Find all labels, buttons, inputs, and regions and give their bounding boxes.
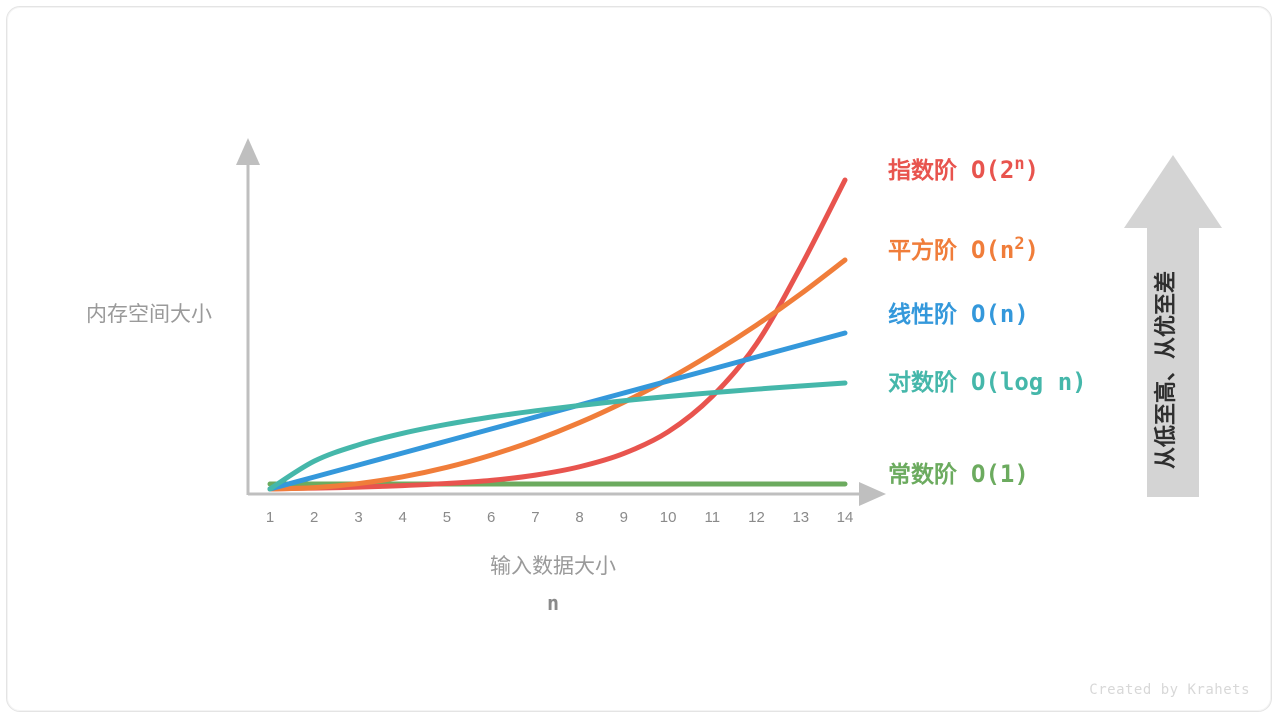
legend-complexity-notation: O(1) bbox=[971, 460, 1029, 488]
legend-item-logarithmic: 对数阶O(log n) bbox=[888, 368, 1087, 396]
chart-legend: 指数阶O(2n)平方阶O(n2)线性阶O(n)对数阶O(log n)常数阶O(1… bbox=[888, 154, 1087, 488]
x-tick-labels: 1234567891011121314 bbox=[266, 509, 854, 526]
x-tick-label: 4 bbox=[399, 509, 407, 526]
x-tick-label: 6 bbox=[487, 509, 495, 526]
x-tick-label: 14 bbox=[837, 509, 854, 526]
complexity-chart: 1234567891011121314 内存空间大小 输入数据大小 n 指数阶O… bbox=[0, 0, 1280, 720]
legend-item-exponential: 指数阶O(2n) bbox=[888, 154, 1039, 184]
trend-arrow-annotation: 从低至高、从优至差 bbox=[1124, 155, 1222, 497]
y-axis-title: 内存空间大小 bbox=[86, 303, 212, 326]
legend-label-cn: 常数阶 bbox=[888, 461, 957, 487]
x-tick-label: 3 bbox=[354, 509, 362, 526]
x-tick-label: 2 bbox=[310, 509, 318, 526]
x-tick-label: 11 bbox=[705, 509, 721, 526]
chart-series-group bbox=[270, 180, 845, 489]
legend-label-cn: 平方阶 bbox=[888, 237, 957, 263]
legend-complexity-notation: O(2n) bbox=[971, 154, 1039, 184]
series-line-exponential bbox=[270, 180, 845, 489]
x-tick-label: 9 bbox=[620, 509, 628, 526]
legend-complexity-notation: O(log n) bbox=[971, 368, 1087, 396]
legend-complexity-notation: O(n) bbox=[971, 300, 1029, 328]
x-tick-label: 10 bbox=[660, 509, 677, 526]
legend-label-cn: 指数阶 bbox=[888, 157, 957, 183]
series-line-linear bbox=[270, 333, 845, 489]
legend-label-cn: 对数阶 bbox=[888, 369, 957, 395]
x-tick-label: 12 bbox=[748, 509, 765, 526]
x-tick-label: 7 bbox=[531, 509, 539, 526]
legend-label-cn: 线性阶 bbox=[888, 301, 957, 327]
x-tick-label: 5 bbox=[443, 509, 451, 526]
x-axis-title: 输入数据大小 bbox=[490, 555, 616, 578]
legend-item-linear: 线性阶O(n) bbox=[888, 300, 1029, 328]
x-axis-variable: n bbox=[547, 591, 559, 615]
x-tick-label: 13 bbox=[792, 509, 809, 526]
trend-arrow-label: 从低至高、从优至差 bbox=[1153, 271, 1178, 469]
legend-complexity-notation: O(n2) bbox=[971, 234, 1039, 264]
series-line-quadratic bbox=[270, 260, 845, 489]
x-tick-label: 8 bbox=[575, 509, 583, 526]
legend-item-constant: 常数阶O(1) bbox=[888, 460, 1029, 488]
chart-stage: 1234567891011121314 内存空间大小 输入数据大小 n 指数阶O… bbox=[0, 0, 1280, 720]
legend-item-quadratic: 平方阶O(n2) bbox=[888, 234, 1039, 264]
chart-axes bbox=[248, 162, 862, 495]
x-tick-label: 1 bbox=[266, 509, 274, 526]
credit-text: Created by Krahets bbox=[1089, 682, 1250, 698]
